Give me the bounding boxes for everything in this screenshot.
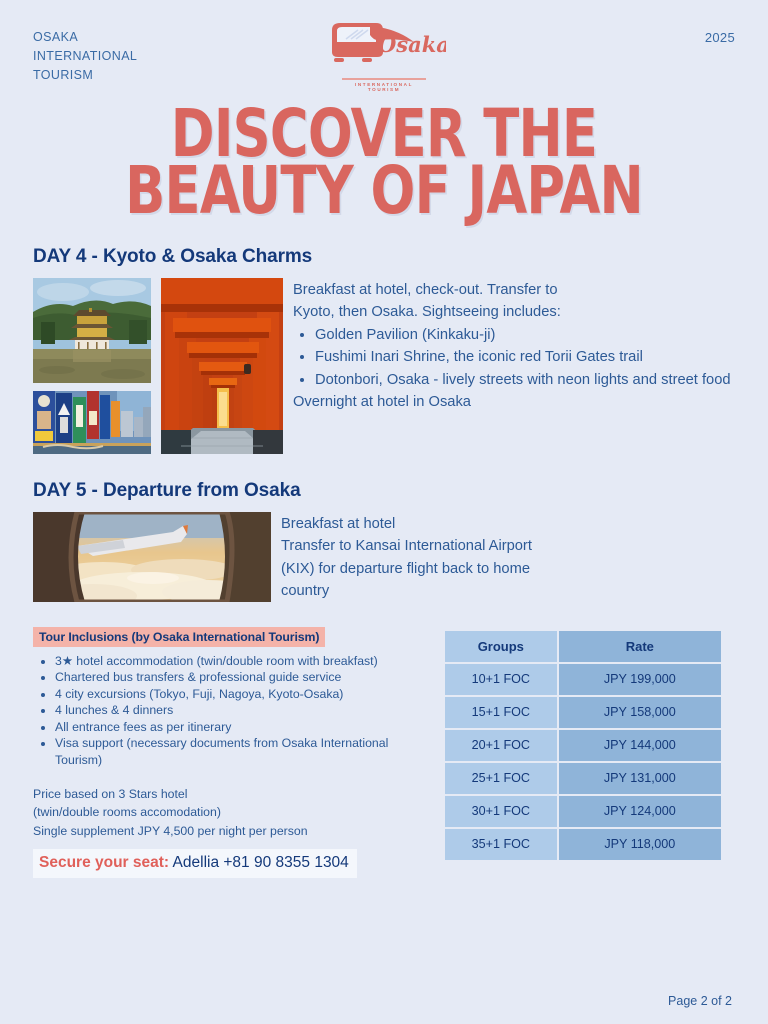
column-header-rate: Rate bbox=[559, 631, 721, 662]
list-item: All entrance fees as per itinerary bbox=[55, 719, 425, 736]
day4-description: Breakfast at hotel, check-out. Transfer … bbox=[293, 278, 731, 414]
rates-table: Groups Rate 10+1 FOC JPY 199,000 15+1 FO… bbox=[443, 629, 723, 862]
brand-name: OSAKA INTERNATIONAL TOURISM bbox=[33, 28, 137, 85]
column-header-groups: Groups bbox=[445, 631, 557, 662]
price-note-line-2: (twin/double rooms accomodation) bbox=[33, 803, 425, 822]
day5-section: Breakfast at hotel Transfer to Kansai In… bbox=[33, 512, 735, 603]
table-row: 30+1 FOC JPY 124,000 bbox=[445, 796, 721, 827]
table-row: 35+1 FOC JPY 118,000 bbox=[445, 829, 721, 860]
day5-line: (KIX) for departure flight back to home bbox=[281, 558, 532, 581]
day4-bullet: Fushimi Inari Shrine, the iconic red Tor… bbox=[315, 346, 731, 369]
list-item: Visa support (necessary documents from O… bbox=[55, 735, 425, 768]
day5-description: Breakfast at hotel Transfer to Kansai In… bbox=[281, 512, 532, 603]
day4-bullet: Golden Pavilion (Kinkaku-ji) bbox=[315, 324, 731, 347]
cell-group: 10+1 FOC bbox=[445, 664, 557, 695]
table-row: 10+1 FOC JPY 199,000 bbox=[445, 664, 721, 695]
tour-inclusions-title: Tour Inclusions (by Osaka International … bbox=[33, 627, 325, 647]
year-label: 2025 bbox=[705, 30, 735, 45]
table-row: 20+1 FOC JPY 144,000 bbox=[445, 730, 721, 761]
list-item: Chartered bus transfers & professional g… bbox=[55, 669, 425, 686]
table-row: 15+1 FOC JPY 158,000 bbox=[445, 697, 721, 728]
table-row: 25+1 FOC JPY 131,000 bbox=[445, 763, 721, 794]
list-item: 3★ hotel accommodation (twin/double room… bbox=[55, 653, 425, 670]
bus-logo-icon: Osaka bbox=[322, 18, 446, 76]
cell-group: 20+1 FOC bbox=[445, 730, 557, 761]
logo-subtitle-2: TOURISM bbox=[322, 87, 446, 92]
dotonbori-neon-signs-photo bbox=[33, 391, 151, 454]
table-header-row: Groups Rate bbox=[445, 631, 721, 662]
list-item: 4 city excursions (Tokyo, Fuji, Nagoya, … bbox=[55, 686, 425, 703]
cell-rate: JPY 118,000 bbox=[559, 829, 721, 860]
day4-intro-line-1: Breakfast at hotel, check-out. Transfer … bbox=[293, 279, 731, 302]
airplane-window-sunset-photo bbox=[33, 512, 271, 602]
price-note-line-1: Price based on 3 Stars hotel bbox=[33, 785, 425, 804]
day5-line: Breakfast at hotel bbox=[281, 513, 532, 536]
title-line-2: BEAUTY OF JAPAN bbox=[77, 163, 691, 220]
tour-inclusions-block: Tour Inclusions (by Osaka International … bbox=[33, 627, 425, 879]
day5-line: country bbox=[281, 580, 532, 603]
cell-rate: JPY 144,000 bbox=[559, 730, 721, 761]
price-note: Price based on 3 Stars hotel (twin/doubl… bbox=[33, 785, 425, 841]
day4-photo-column bbox=[33, 278, 151, 454]
day4-bullet-list: Golden Pavilion (Kinkaku-ji) Fushimi Ina… bbox=[293, 324, 731, 392]
day4-intro-line-2: Kyoto, then Osaka. Sightseeing includes: bbox=[293, 301, 731, 324]
page-number: Page 2 of 2 bbox=[668, 994, 732, 1008]
brand-line-1: OSAKA bbox=[33, 28, 137, 47]
cell-rate: JPY 158,000 bbox=[559, 697, 721, 728]
osaka-tourism-logo: Osaka INTERNATIONAL TOURISM bbox=[322, 18, 446, 92]
day4-closing: Overnight at hotel in Osaka bbox=[293, 391, 731, 414]
kinkakuji-golden-pavilion-photo bbox=[33, 278, 151, 383]
logo-divider bbox=[342, 78, 426, 80]
day5-heading: DAY 5 - Departure from Osaka bbox=[33, 480, 735, 502]
contact-phone[interactable]: Adellia +81 90 8355 1304 bbox=[173, 854, 349, 871]
day5-line: Transfer to Kansai International Airport bbox=[281, 535, 532, 558]
brand-line-3: TOURISM bbox=[33, 66, 137, 85]
cell-group: 15+1 FOC bbox=[445, 697, 557, 728]
brand-line-2: INTERNATIONAL bbox=[33, 47, 137, 66]
secure-seat-label: Secure your seat: bbox=[39, 854, 169, 871]
contact-cta[interactable]: Secure your seat: Adellia +81 90 8355 13… bbox=[33, 849, 357, 878]
svg-text:Osaka: Osaka bbox=[378, 32, 446, 57]
page-title: DISCOVER THE BEAUTY OF JAPAN bbox=[0, 106, 768, 220]
day4-heading: DAY 4 - Kyoto & Osaka Charms bbox=[33, 246, 735, 268]
cell-group: 30+1 FOC bbox=[445, 796, 557, 827]
price-note-line-3: Single supplement JPY 4,500 per night pe… bbox=[33, 822, 425, 841]
cell-rate: JPY 131,000 bbox=[559, 763, 721, 794]
day4-section: Breakfast at hotel, check-out. Transfer … bbox=[33, 278, 735, 454]
cell-group: 25+1 FOC bbox=[445, 763, 557, 794]
fushimi-inari-torii-gates-photo bbox=[161, 278, 283, 454]
cell-rate: JPY 199,000 bbox=[559, 664, 721, 695]
bottom-section: Tour Inclusions (by Osaka International … bbox=[33, 627, 735, 879]
cell-rate: JPY 124,000 bbox=[559, 796, 721, 827]
list-item: 4 lunches & 4 dinners bbox=[55, 702, 425, 719]
day4-bullet: Dotonbori, Osaka - lively streets with n… bbox=[315, 369, 731, 392]
page-header: OSAKA INTERNATIONAL TOURISM Osaka INTERN… bbox=[0, 0, 768, 100]
cell-group: 35+1 FOC bbox=[445, 829, 557, 860]
tour-inclusions-list: 3★ hotel accommodation (twin/double room… bbox=[33, 653, 425, 769]
